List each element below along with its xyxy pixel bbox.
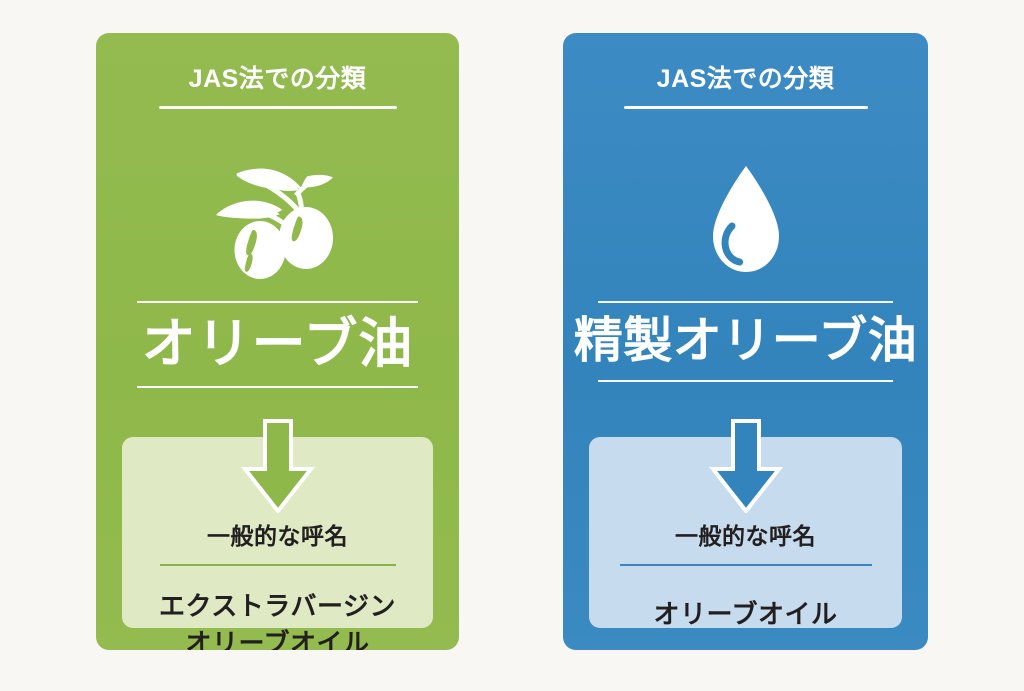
card-title: オリーブ油 — [96, 312, 459, 378]
panel-content: 一般的な呼名 オリーブオイル — [589, 523, 902, 633]
common-name-value: オリーブオイル — [589, 596, 902, 633]
title-divider-top — [598, 301, 893, 303]
title-block: 精製オリーブ油 — [563, 301, 928, 382]
panel-divider — [160, 564, 396, 566]
title-divider-bottom — [598, 380, 893, 382]
jas-classification-label: JAS法での分類 — [96, 65, 459, 94]
title-block: オリーブ油 — [96, 301, 459, 388]
card-header: JAS法での分類 — [96, 33, 459, 109]
down-arrow-icon — [707, 419, 785, 513]
card-header: JAS法での分類 — [563, 33, 928, 109]
card-olive-oil: JAS法での分類 — [96, 33, 459, 650]
card-refined-olive-oil: JAS法での分類 精製オリーブ油 一般的な呼名 オリーブオイル — [563, 33, 928, 650]
title-divider-bottom — [137, 386, 418, 388]
common-name-line-1: オリーブオイル — [589, 596, 902, 633]
header-divider — [624, 106, 868, 109]
panel-divider — [620, 564, 872, 566]
common-name-value: エクストラバージン オリーブオイル — [122, 588, 433, 650]
common-name-label: 一般的な呼名 — [589, 523, 902, 551]
header-divider — [159, 106, 397, 109]
common-name-line-2: オリーブオイル — [122, 625, 433, 651]
down-arrow-icon — [239, 419, 317, 513]
common-name-label: 一般的な呼名 — [122, 523, 433, 551]
infographic-stage: JAS法での分類 — [0, 0, 1024, 691]
common-name-line-1: エクストラバージン — [122, 588, 433, 625]
jas-classification-label: JAS法での分類 — [563, 65, 928, 94]
panel-content: 一般的な呼名 エクストラバージン オリーブオイル — [122, 523, 433, 650]
card-title: 精製オリーブ油 — [563, 312, 928, 372]
title-divider-top — [137, 301, 418, 303]
olive-branch-icon — [96, 151, 459, 291]
oil-droplet-icon — [563, 151, 928, 291]
